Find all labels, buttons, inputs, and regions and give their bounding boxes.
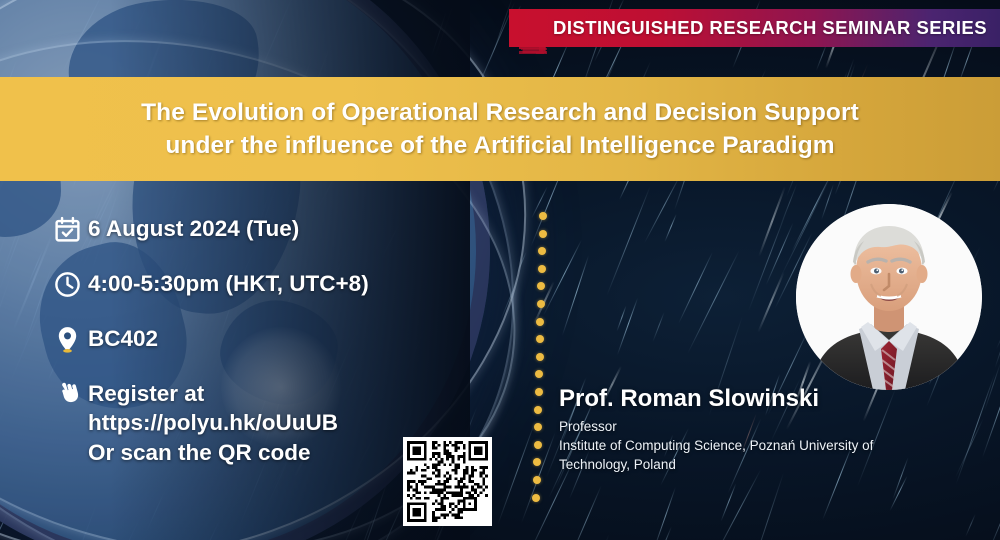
series-banner: DISTINGUISHED RESEARCH SEMINAR SERIES — [509, 9, 1000, 47]
detail-row-venue: BC402 — [46, 324, 476, 354]
detail-row-date: 6 August 2024 (Tue) — [46, 214, 476, 244]
speaker-portrait — [796, 204, 982, 390]
series-banner-label: DISTINGUISHED RESEARCH SEMINAR SERIES — [553, 17, 987, 39]
divider-dot — [534, 441, 542, 449]
speaker-info: Prof. Roman Slowinski Professor Institut… — [559, 386, 899, 474]
divider-dot — [533, 476, 541, 484]
speaker-name: Prof. Roman Slowinski — [559, 386, 899, 413]
register-line-1: Register at — [88, 379, 338, 408]
dotted-divider — [529, 212, 551, 512]
speaker-affiliation: Institute of Computing Science, Poznań U… — [559, 436, 889, 474]
divider-dot — [539, 212, 547, 220]
divider-dot — [538, 265, 546, 273]
title-banner: The Evolution of Operational Research an… — [0, 77, 1000, 181]
detail-venue-label: BC402 — [88, 324, 158, 353]
hand-pointer-icon — [46, 379, 88, 409]
detail-date-label: 6 August 2024 (Tue) — [88, 214, 299, 243]
event-details-list: 6 August 2024 (Tue) 4:00-5:30pm (HKT, UT… — [46, 214, 476, 467]
divider-dot — [536, 353, 544, 361]
divider-dot — [537, 300, 545, 308]
seminar-poster: DISTINGUISHED RESEARCH SEMINAR SERIES Th… — [0, 0, 1000, 540]
detail-time-label: 4:00-5:30pm (HKT, UTC+8) — [88, 269, 369, 298]
register-line-3: Or scan the QR code — [88, 438, 338, 467]
location-pin-icon — [46, 324, 88, 354]
divider-dot — [539, 230, 547, 238]
speaker-title: Professor — [559, 417, 899, 436]
page-title-line2: under the influence of the Artificial In… — [165, 129, 834, 162]
detail-row-time: 4:00-5:30pm (HKT, UTC+8) — [46, 269, 476, 299]
divider-dot — [535, 388, 543, 396]
divider-dot — [532, 494, 540, 502]
divider-dot — [534, 406, 542, 414]
divider-dot — [537, 282, 545, 290]
divider-dot — [536, 318, 544, 326]
clock-icon — [46, 269, 88, 299]
divider-dot — [536, 335, 544, 343]
page-title-line1: The Evolution of Operational Research an… — [141, 96, 859, 129]
divider-dot — [538, 247, 546, 255]
calendar-icon — [46, 214, 88, 244]
divider-dot — [534, 423, 542, 431]
qr-code[interactable] — [403, 437, 492, 526]
register-url[interactable]: https://polyu.hk/oUuUB — [88, 408, 338, 437]
divider-dot — [535, 370, 543, 378]
divider-dot — [533, 458, 541, 466]
register-text: Register at https://polyu.hk/oUuUB Or sc… — [88, 379, 338, 467]
